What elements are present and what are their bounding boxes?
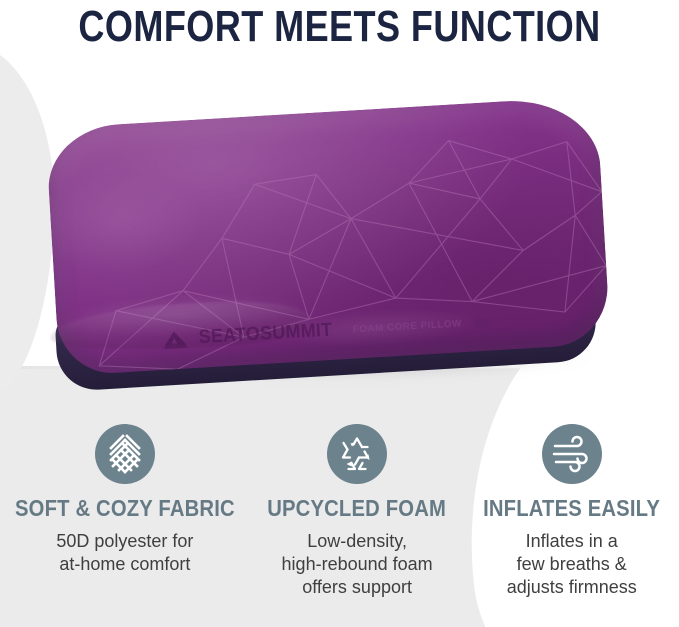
feature-description-line: Inflates in a xyxy=(507,530,637,553)
mountain-wave-icon xyxy=(162,329,189,350)
feature-description-line: offers support xyxy=(282,576,433,599)
feature-description-line: few breaths & xyxy=(507,553,637,576)
feature-title: INFLATES EASILY xyxy=(483,495,660,521)
feature-description-line: 50D polyester for xyxy=(56,530,193,553)
feature-upcycled-foam: UPCYCLED FOAM Low-density, high-rebound … xyxy=(250,424,465,599)
page-title: COMFORT MEETS FUNCTION xyxy=(61,2,618,52)
feature-title: UPCYCLED FOAM xyxy=(268,495,447,521)
feature-inflates-easily: INFLATES EASILY Inflates in a few breath… xyxy=(464,424,679,599)
feature-description-line: high-rebound foam xyxy=(282,553,433,576)
brand-chip-icon xyxy=(475,318,488,327)
feature-row: SOFT & COZY FABRIC 50D polyester for at-… xyxy=(0,424,679,599)
feature-description-line: adjusts firmness xyxy=(507,576,637,599)
feature-title: SOFT & COZY FABRIC xyxy=(15,495,235,521)
product-image-pillow: SEATOSUMMIT FOAM CORE PILLOW xyxy=(44,108,644,396)
feature-description-line: Low-density, xyxy=(282,530,433,553)
feature-description: Low-density, high-rebound foam offers su… xyxy=(282,530,433,599)
feature-description: 50D polyester for at-home comfort xyxy=(56,530,193,576)
woven-fabric-icon xyxy=(95,424,155,484)
wind-icon xyxy=(542,424,602,484)
feature-description-line: at-home comfort xyxy=(56,553,193,576)
recycle-icon xyxy=(327,424,387,484)
product-model-print: FOAM CORE PILLOW xyxy=(352,318,462,335)
feature-soft-cozy-fabric: SOFT & COZY FABRIC 50D polyester for at-… xyxy=(0,424,250,599)
product-infographic: COMFORT MEETS FUNCTION xyxy=(0,0,679,627)
feature-description: Inflates in a few breaths & adjusts firm… xyxy=(507,530,637,599)
